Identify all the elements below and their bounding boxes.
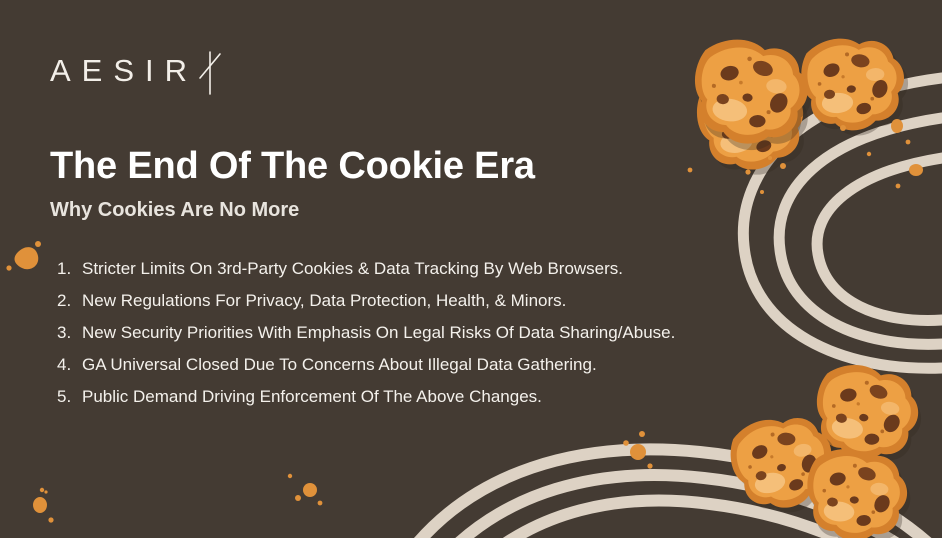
brand-name: AESIR [50, 53, 198, 88]
list-item: 2.New Regulations For Privacy, Data Prot… [57, 291, 817, 323]
slide-canvas: AESIR The End Of The Cookie Era Why Cook… [0, 0, 942, 538]
list-item-number: 4. [57, 355, 82, 375]
list-item-number: 3. [57, 323, 82, 343]
list-item: 1.Stricter Limits On 3rd-Party Cookies &… [57, 259, 817, 291]
rune-glyph-icon [196, 50, 222, 96]
list-item: 5.Public Demand Driving Enforcement Of T… [57, 387, 817, 419]
page-subtitle: Why Cookies Are No More [50, 199, 299, 222]
content-layer: AESIR The End Of The Cookie Era Why Cook… [0, 0, 942, 538]
list-item-text: Stricter Limits On 3rd-Party Cookies & D… [82, 259, 623, 279]
list-item: 3.New Security Priorities With Emphasis … [57, 323, 817, 355]
page-title: The End Of The Cookie Era [50, 145, 535, 188]
list-item: 4.GA Universal Closed Due To Concerns Ab… [57, 355, 817, 387]
list-item-text: New Regulations For Privacy, Data Protec… [82, 291, 566, 311]
numbered-points-list: 1.Stricter Limits On 3rd-Party Cookies &… [57, 259, 817, 419]
list-item-text: New Security Priorities With Emphasis On… [82, 323, 675, 343]
list-item-text: GA Universal Closed Due To Concerns Abou… [82, 355, 597, 375]
brand-logo: AESIR [50, 48, 230, 94]
list-item-number: 5. [57, 387, 82, 407]
list-item-number: 1. [57, 259, 82, 279]
list-item-number: 2. [57, 291, 82, 311]
list-item-text: Public Demand Driving Enforcement Of The… [82, 387, 542, 407]
